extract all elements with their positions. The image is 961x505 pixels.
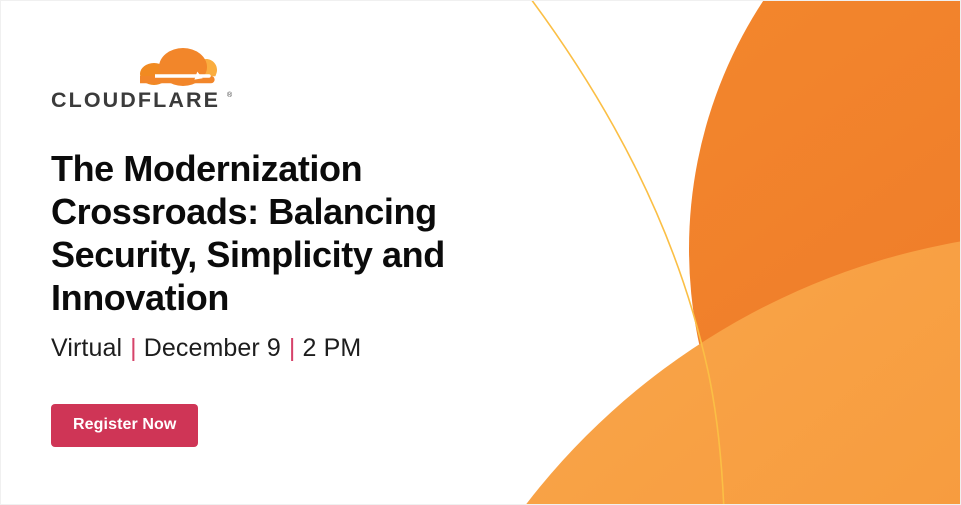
- event-separator-2: |: [289, 334, 296, 362]
- content-column: CLOUDFLARE ® The Modernization Crossroad…: [51, 1, 521, 505]
- thin-yellow-arc: [528, 1, 724, 505]
- cloud-slit-upper: [155, 74, 211, 78]
- page-title: The Modernization Crossroads: Balancing …: [51, 147, 481, 319]
- cloud-icon: [137, 47, 231, 89]
- event-separator-1: |: [130, 334, 137, 362]
- register-now-button[interactable]: Register Now: [51, 404, 198, 447]
- cloudflare-logo: CLOUDFLARE ®: [51, 47, 237, 113]
- dark-orange-circle: [689, 1, 961, 505]
- event-date: December 9: [144, 334, 281, 362]
- event-details: Virtual|December 9|2 PM: [51, 331, 361, 365]
- event-format: Virtual: [51, 334, 122, 362]
- event-promo-banner: CLOUDFLARE ® The Modernization Crossroad…: [0, 0, 961, 505]
- cloudflare-wordmark: CLOUDFLARE ®: [51, 87, 237, 113]
- svg-text:CLOUDFLARE: CLOUDFLARE: [51, 88, 220, 112]
- event-time: 2 PM: [303, 334, 362, 362]
- svg-text:®: ®: [227, 91, 233, 99]
